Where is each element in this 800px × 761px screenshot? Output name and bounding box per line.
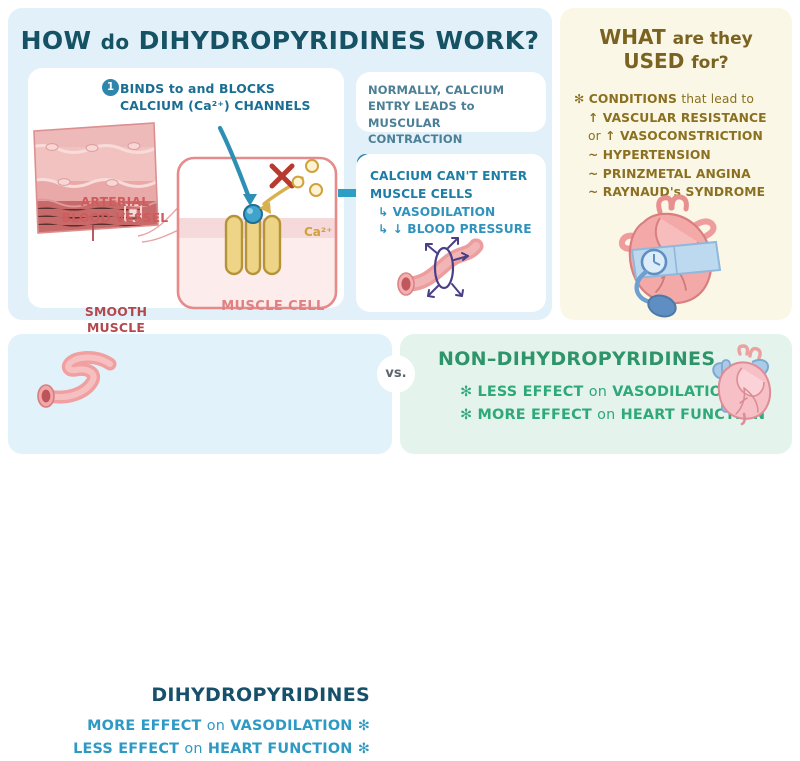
step1-blocks: BLOCKS bbox=[219, 81, 275, 96]
dhp-marker-icon-1: ✻ bbox=[358, 718, 370, 734]
result-line2: MUSCLE CELLS bbox=[370, 187, 473, 201]
uses-title-for: for? bbox=[691, 53, 728, 73]
uses-conditions: CONDITIONS bbox=[589, 92, 677, 106]
dhp-title: DIHYDROPYRIDINES bbox=[151, 684, 370, 706]
step-2-text: CALCIUM CAN'T ENTER MUSCLE CELLS ↳ VASOD… bbox=[370, 168, 540, 239]
dhp-on-1: on bbox=[207, 718, 225, 734]
panel-dihydropyridines: DIHYDROPYRIDINES MORE EFFECT on VASODILA… bbox=[8, 334, 392, 454]
ndhp-marker-icon-2: ✻ bbox=[460, 407, 472, 423]
uses-vasoconstriction-row: or ↑ VASOCONSTRICTION bbox=[574, 127, 784, 146]
step-1-text: BINDS to and BLOCKS CALCIUM (Ca²⁺) CHANN… bbox=[120, 80, 311, 114]
infographic-canvas: HOW do DIHYDROPYRIDINES WORK? bbox=[0, 0, 800, 462]
label-arterial-line1: ARTERIAL bbox=[81, 194, 150, 209]
label-calcium-ion: Ca²⁺ bbox=[304, 225, 333, 239]
uses-vascular-resistance: ↑ VASCULAR RESISTANCE bbox=[574, 109, 784, 128]
panel-indications: WHAT are they USED for? ✻ CONDITIONS tha… bbox=[560, 8, 792, 320]
normal-physiology-text: NORMALLY, CALCIUM ENTRY LEADS to MUSCULA… bbox=[368, 82, 538, 147]
dhp-on-2: on bbox=[184, 741, 202, 757]
condition-prinzmetal-angina: ~ PRINZMETAL ANGINA bbox=[574, 165, 784, 184]
label-arterial-line2: BLOOD VESSEL bbox=[62, 210, 169, 225]
dhp-effects-list: MORE EFFECT on VASODILATION ✻ LESS EFFEC… bbox=[73, 715, 370, 761]
uses-title-used: USED bbox=[623, 49, 684, 73]
uses-that-lead-to: that lead to bbox=[681, 92, 754, 106]
card-result: CALCIUM CAN'T ENTER MUSCLE CELLS ↳ VASOD… bbox=[356, 154, 546, 312]
dhp-less-effect: LESS EFFECT bbox=[73, 741, 179, 757]
ndhp-title: NON–DIHYDROPYRIDINES bbox=[438, 348, 715, 370]
normal-line2: ENTRY LEADS bbox=[368, 99, 457, 113]
step1-channels: CALCIUM (Ca²⁺) CHANNELS bbox=[120, 98, 311, 113]
ndhp-on-2: on bbox=[597, 407, 615, 423]
uses-or: or bbox=[588, 129, 601, 143]
vs-badge: vs. bbox=[377, 355, 415, 393]
dhp-marker-icon-2: ✻ bbox=[358, 741, 370, 757]
heart-with-bp-cuff-illustration bbox=[598, 196, 758, 324]
title-part-how: HOW bbox=[21, 26, 92, 55]
result-line1: CALCIUM CAN'T ENTER bbox=[370, 169, 527, 183]
normal-line3: MUSCULAR CONTRACTION bbox=[368, 116, 463, 146]
panel-mechanism: HOW do DIHYDROPYRIDINES WORK? bbox=[8, 8, 552, 320]
uses-vasoconstriction: ↑ VASOCONSTRICTION bbox=[605, 129, 763, 143]
normal-line2-lower: to bbox=[461, 99, 475, 113]
ndhp-less-effect: LESS EFFECT bbox=[477, 384, 583, 400]
ndhp-marker-icon-1: ✻ bbox=[460, 384, 472, 400]
card-normal-physiology: NORMALLY, CALCIUM ENTRY LEADS to MUSCULA… bbox=[356, 72, 546, 132]
title-part-rest: DIHYDROPYRIDINES WORK? bbox=[139, 26, 540, 55]
label-smooth-muscle: SMOOTH MUSCLE bbox=[66, 304, 166, 335]
page-title: HOW do DIHYDROPYRIDINES WORK? bbox=[8, 26, 552, 55]
title-part-do: do bbox=[101, 30, 130, 54]
indications-list: ✻ CONDITIONS that lead to ↑ VASCULAR RES… bbox=[574, 90, 784, 202]
condition-hypertension: ~ HYPERTENSION bbox=[574, 146, 784, 165]
uses-title-what: WHAT bbox=[599, 25, 665, 49]
vasodilation-illustration bbox=[382, 232, 522, 304]
dhp-effect-vasodilation: MORE EFFECT on VASODILATION ✻ bbox=[73, 715, 370, 738]
calcium-channel-icon bbox=[226, 216, 280, 274]
step-badge-1: 1 bbox=[102, 79, 119, 96]
result-vasodilation: ↳ VASODILATION bbox=[370, 204, 540, 222]
step1-binds: BINDS bbox=[120, 81, 164, 96]
ndhp-on-1: on bbox=[589, 384, 607, 400]
label-arterial-blood-vessel: ARTERIAL BLOOD VESSEL bbox=[60, 194, 170, 225]
panel-non-dihydropyridines: NON–DIHYDROPYRIDINES ✻ LESS EFFECT on VA… bbox=[400, 334, 792, 454]
ndhp-more-effect: MORE EFFECT bbox=[477, 407, 591, 423]
bullet-marker-icon: ✻ bbox=[574, 92, 584, 106]
dhp-vasodilation: VASODILATION bbox=[230, 718, 352, 734]
label-muscle-cell: MUSCLE CELL bbox=[208, 299, 338, 314]
dhp-effect-heart: LESS EFFECT on HEART FUNCTION ✻ bbox=[73, 738, 370, 761]
heart-icon bbox=[700, 344, 784, 428]
uses-title-arethey: are they bbox=[673, 29, 753, 49]
uses-title: WHAT are they USED for? bbox=[560, 26, 792, 73]
dhp-heart-function: HEART FUNCTION bbox=[208, 741, 353, 757]
normal-line1: NORMALLY, CALCIUM bbox=[368, 83, 504, 97]
dhp-more-effect: MORE EFFECT bbox=[87, 718, 201, 734]
label-smooth-line2: MUSCLE bbox=[87, 320, 145, 335]
blood-vessel-icon bbox=[30, 350, 122, 412]
step1-connector: to and bbox=[169, 81, 215, 96]
label-smooth-line1: SMOOTH bbox=[85, 304, 147, 319]
